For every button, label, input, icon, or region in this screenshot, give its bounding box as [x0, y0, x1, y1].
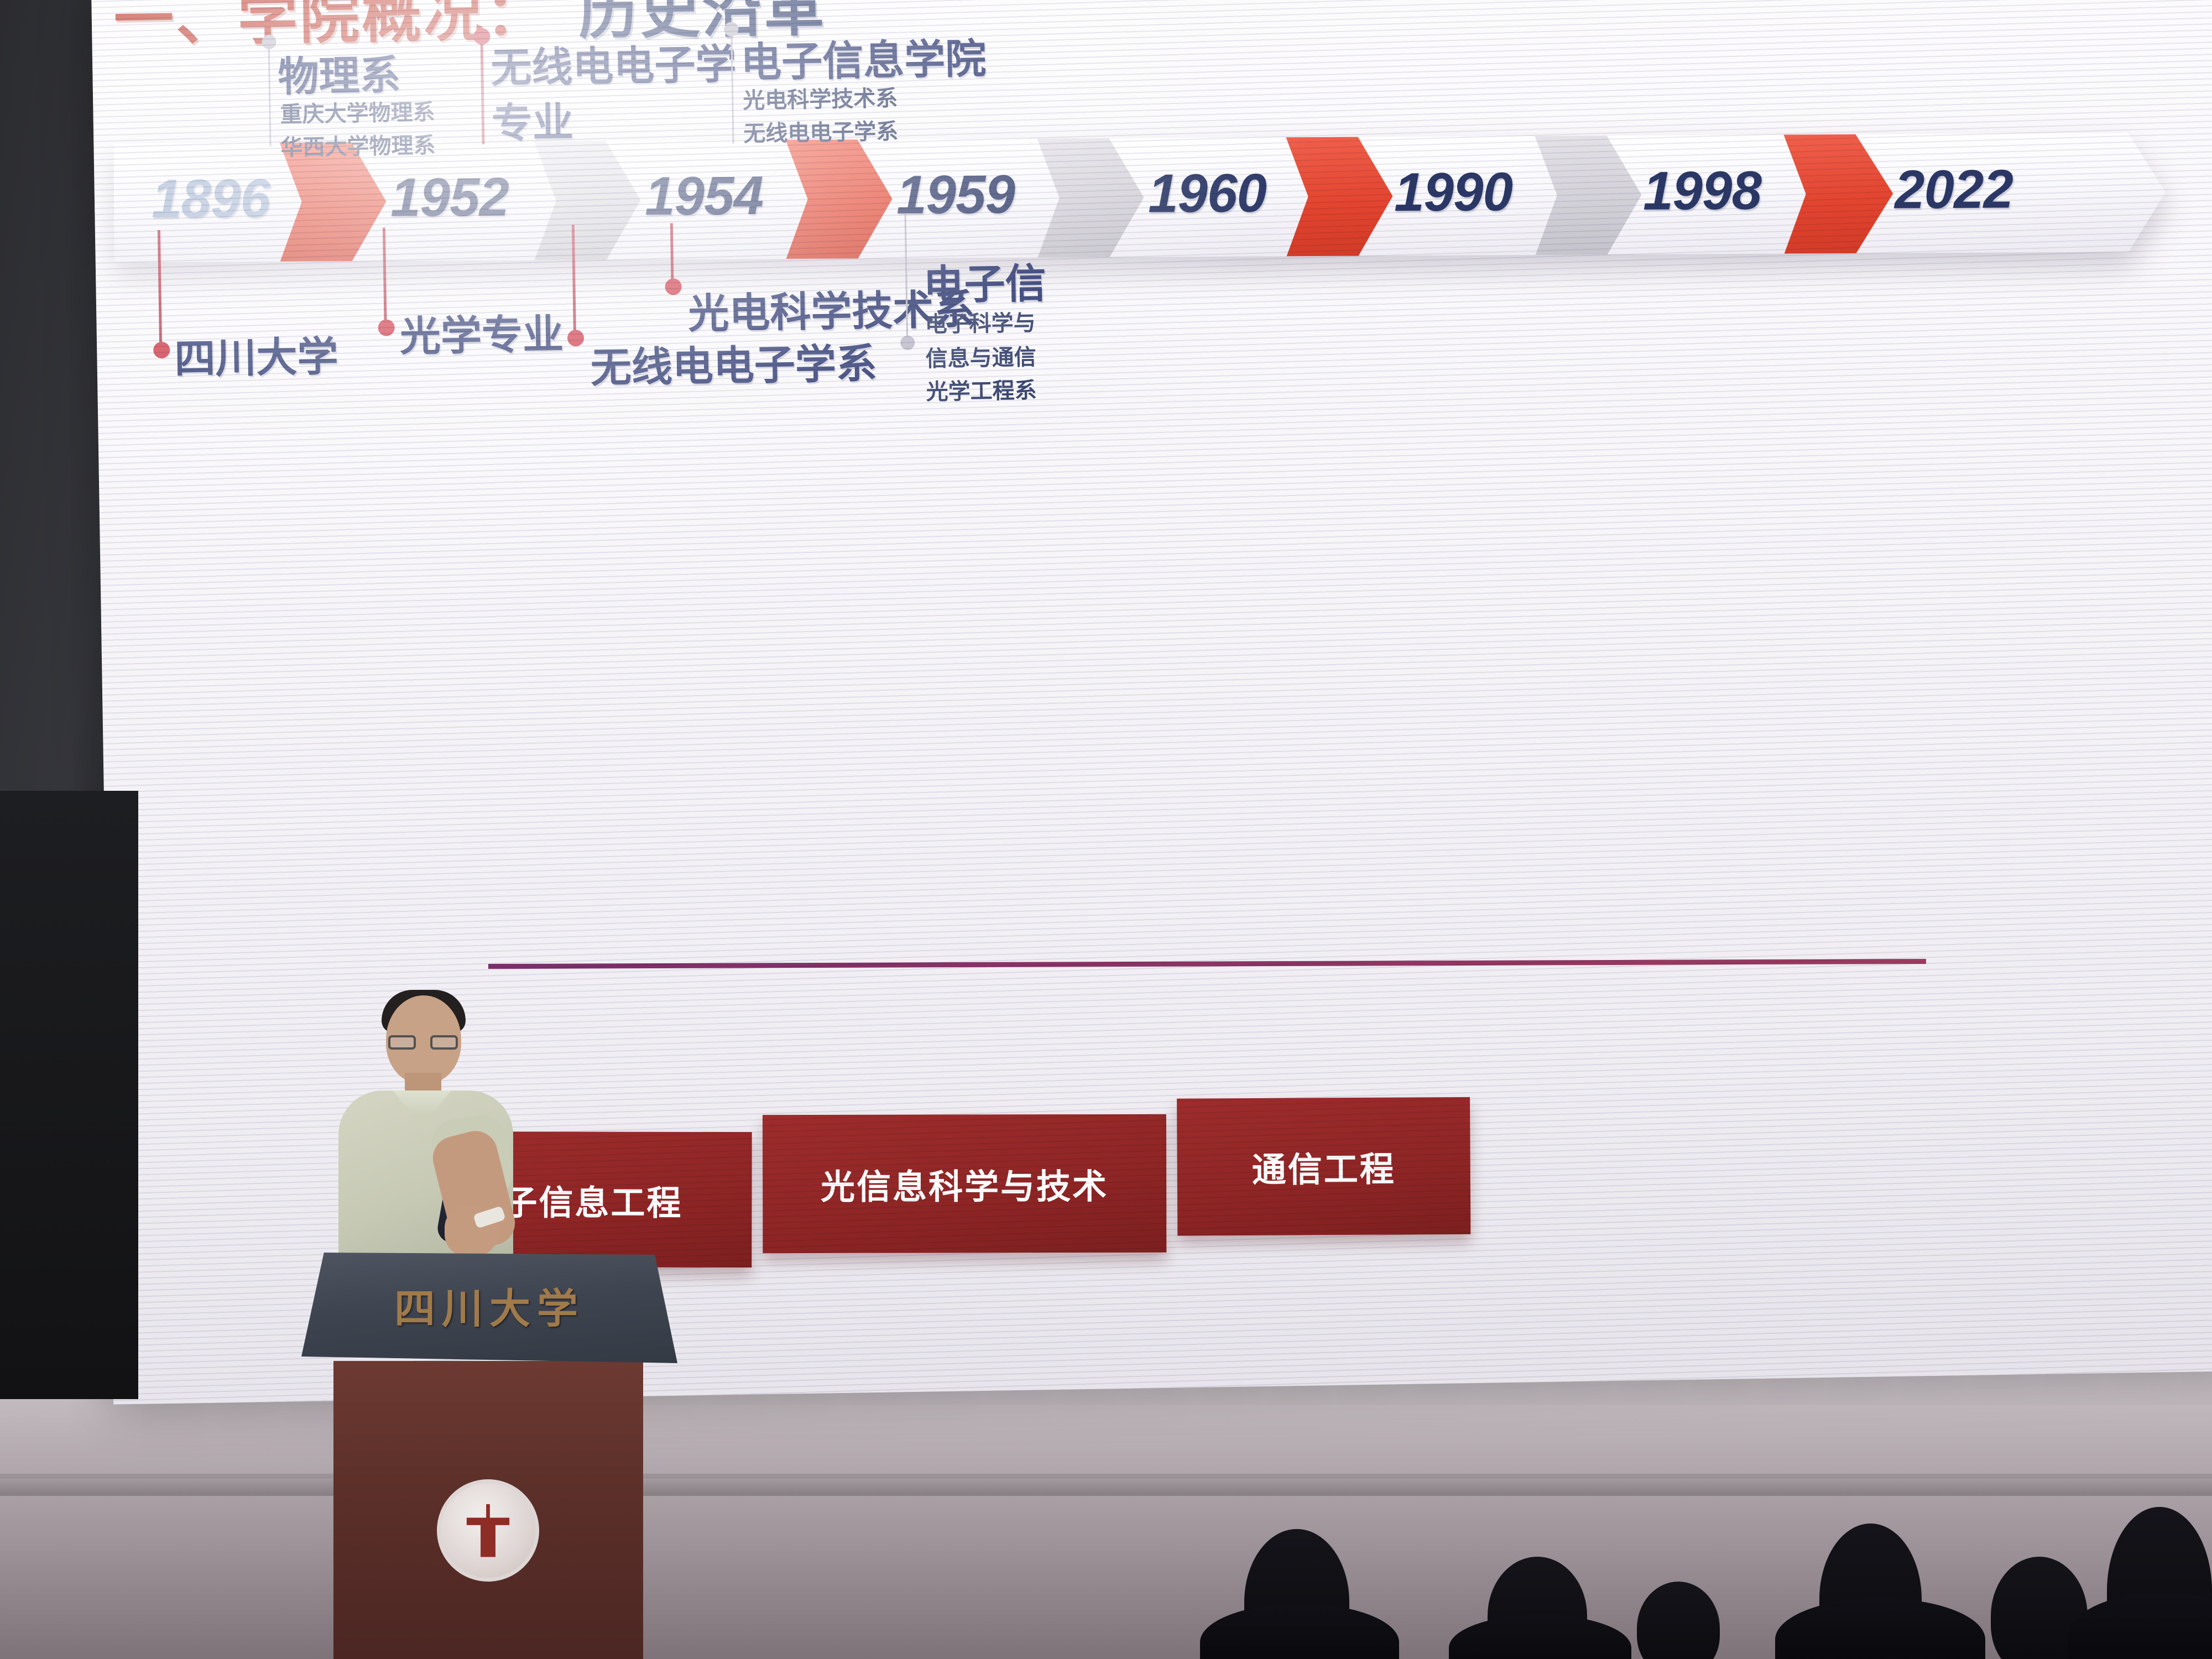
callout-heading-1960: 无线电电子学系 [590, 331, 878, 394]
lectern-calligraphy: 四川大学 [301, 1276, 677, 1335]
left-wall-lower [0, 791, 138, 1399]
callout-heading-1896: 四川大学 [174, 324, 339, 385]
timeline-year-1990: 1990 [1394, 160, 1513, 223]
section-divider-rule [488, 959, 1926, 969]
callout-heading-1954: 光学专业 [399, 301, 564, 363]
timeline-year-1998: 1998 [1643, 159, 1762, 222]
timeline-year-1952: 1952 [390, 166, 509, 229]
timeline-year-1954: 1954 [645, 164, 764, 227]
callout-sub-1998-b: 无线电电子学系 [743, 113, 899, 148]
callout-heading-1952: 物理系 [278, 42, 401, 103]
callout-sub-1998-a: 光电科学技术系 [743, 80, 898, 114]
program-chip-3[interactable]: 通信工程 [1177, 1097, 1470, 1236]
university-seal-icon [437, 1479, 539, 1582]
callout-heading-1959-line1: 无线电电子学 [490, 32, 737, 95]
callout-sub-2022-a: 电子科学与 [925, 305, 1036, 338]
callout-heading-2022: 电子信 [923, 251, 1047, 311]
callout-dot-2022 [900, 336, 915, 350]
callout-heading-1959-line2: 专业 [491, 89, 574, 149]
callout-sub-2022-c: 光学工程系 [926, 372, 1037, 406]
timeline-year-1960: 1960 [1148, 161, 1267, 225]
callout-leader-1952 [268, 41, 272, 147]
program-chip-2[interactable]: 光信息科学与技术 [763, 1114, 1166, 1253]
timeline-year-1959: 1959 [896, 163, 1015, 226]
callout-dot-1960 [567, 330, 584, 346]
timeline-year-1896: 1896 [152, 167, 270, 230]
callout-heading-1998: 电子信息学院 [740, 26, 987, 89]
callout-dot-1990 [665, 278, 681, 295]
callout-sub-1952-a: 重庆大学物理系 [280, 94, 435, 128]
glasses-icon [388, 1035, 458, 1050]
callout-sub-1952-b: 华西大学物理系 [280, 127, 436, 161]
timeline-year-2022: 2022 [1895, 158, 2013, 221]
auditorium-scene: 一、学院概况：历史沿革 1896 1952 [0, 0, 2212, 1659]
callout-sub-2022-b: 信息与通信 [925, 339, 1036, 373]
callout-dot-1896 [153, 342, 170, 358]
callout-dot-1954 [378, 319, 394, 336]
lectern: 四川大学 [301, 1253, 677, 1659]
